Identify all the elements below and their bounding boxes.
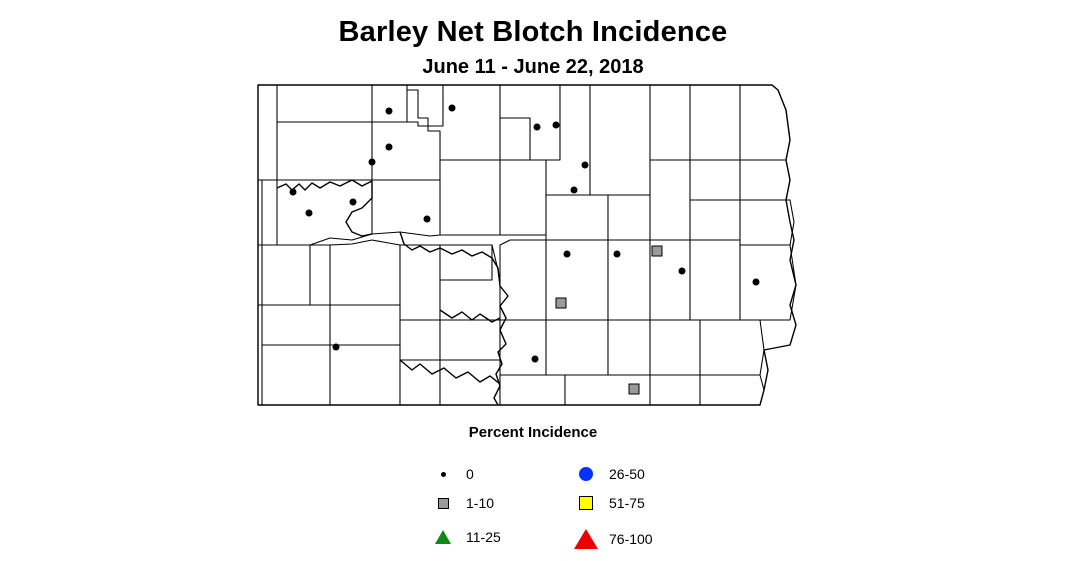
- legend-item-76-100: 76-100: [571, 529, 653, 549]
- data-point[interactable]: [449, 105, 456, 112]
- data-point[interactable]: [386, 108, 393, 115]
- data-point[interactable]: [333, 344, 340, 351]
- data-point[interactable]: [532, 356, 539, 363]
- legend-item-26-50: 26-50: [571, 466, 645, 482]
- legend-item-label: 1-10: [466, 495, 494, 511]
- small-black-dot-icon: [428, 472, 458, 477]
- legend-item-11-25: 11-25: [428, 529, 501, 545]
- map-page: Barley Net Blotch Incidence June 11 - Ju…: [0, 0, 1066, 561]
- gray-square-icon: [428, 498, 458, 509]
- data-point[interactable]: [629, 384, 640, 395]
- data-point[interactable]: [582, 162, 589, 169]
- data-point[interactable]: [652, 246, 663, 257]
- data-point[interactable]: [753, 279, 760, 286]
- data-point[interactable]: [386, 144, 393, 151]
- blue-circle-icon: [571, 467, 601, 481]
- legend: Percent Incidence 0 1-10 11-25 26-50 51-…: [0, 424, 1066, 561]
- data-point[interactable]: [424, 216, 431, 223]
- data-point[interactable]: [564, 251, 571, 258]
- legend-item-label: 51-75: [609, 495, 645, 511]
- green-triangle-icon: [428, 530, 458, 544]
- legend-title: Percent Incidence: [0, 424, 1066, 441]
- data-point[interactable]: [614, 251, 621, 258]
- red-triangle-icon: [571, 529, 601, 549]
- data-point[interactable]: [679, 268, 686, 275]
- legend-item-51-75: 51-75: [571, 495, 645, 511]
- data-point[interactable]: [571, 187, 578, 194]
- data-point[interactable]: [290, 189, 297, 196]
- data-point[interactable]: [556, 298, 567, 309]
- legend-item-1-10: 1-10: [428, 495, 494, 511]
- legend-item-label: 11-25: [466, 529, 501, 545]
- data-point[interactable]: [306, 210, 313, 217]
- data-point[interactable]: [369, 159, 376, 166]
- data-point[interactable]: [534, 124, 541, 131]
- data-point[interactable]: [350, 199, 357, 206]
- legend-item-label: 76-100: [609, 531, 653, 547]
- yellow-square-icon: [571, 496, 601, 510]
- map-container: [0, 0, 1066, 430]
- county-polygons: [258, 85, 796, 405]
- legend-item-label: 0: [466, 466, 474, 482]
- north-dakota-county-map: [0, 0, 1066, 430]
- legend-item-0: 0: [428, 466, 474, 482]
- legend-item-label: 26-50: [609, 466, 645, 482]
- data-point[interactable]: [553, 122, 560, 129]
